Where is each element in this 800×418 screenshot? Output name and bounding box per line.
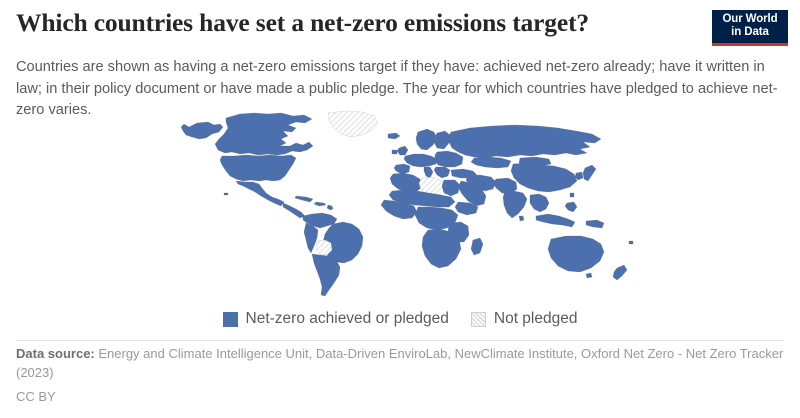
country-united-states[interactable] [220,155,296,181]
country-papua-new-guinea[interactable] [586,220,604,228]
country-western-europe[interactable] [404,154,437,167]
country-united-kingdom[interactable] [397,146,408,155]
country-alaska[interactable] [181,122,223,139]
data-source: Data source: Energy and Climate Intellig… [16,345,784,382]
world-map-container[interactable] [0,108,800,303]
license-label[interactable]: CC BY [16,388,784,406]
logo-line-1: Our World [716,13,784,26]
world-map[interactable] [0,108,800,303]
country-sri-lanka[interactable] [519,216,524,221]
data-source-label: Data source: [16,346,95,361]
legend-swatch-pledged-icon [223,312,238,327]
our-world-in-data-logo[interactable]: Our World in Data [712,10,788,46]
country-hawaii[interactable] [224,193,228,195]
legend-label-not-pledged: Not pledged [494,310,578,328]
country-new-zealand[interactable] [613,265,627,280]
country-kazakhstan[interactable] [471,157,511,168]
country-philippines[interactable] [565,202,577,212]
chart-footer: Data source: Energy and Climate Intellig… [16,345,784,406]
country-italy[interactable] [424,167,433,178]
country-finland-baltics[interactable] [434,131,450,149]
chart-header: Which countries have set a net-zero emis… [0,0,800,52]
country-morocco-algeria[interactable] [390,173,422,192]
country-cuba[interactable] [295,196,313,202]
country-greenland[interactable] [328,111,378,137]
country-peru-ecuador[interactable] [304,223,318,253]
logo-line-2: in Data [716,26,784,39]
country-iberia[interactable] [394,164,410,174]
country-madagascar[interactable] [471,238,483,255]
legend-item-pledged[interactable]: Net-zero achieved or pledged [223,310,449,328]
country-australia[interactable] [548,236,604,272]
country-eastern-europe[interactable] [435,151,463,167]
country-taiwan[interactable] [570,193,574,197]
footer-divider [16,340,784,341]
country-central-america[interactable] [283,203,305,218]
data-source-text: Energy and Climate Intelligence Unit, Da… [16,346,783,380]
country-mexico[interactable] [236,181,284,206]
country-japan[interactable] [583,165,596,181]
country-balkans-greece[interactable] [434,167,450,178]
country-indonesia[interactable] [536,214,575,227]
country-chile-argentina[interactable] [312,254,340,296]
country-hispaniola[interactable] [314,202,326,206]
country-egypt[interactable] [442,180,460,196]
legend-item-not-pledged[interactable]: Not pledged [471,310,578,328]
map-legend: Net-zero achieved or pledged Not pledged [0,306,800,332]
country-scandinavia[interactable] [416,129,437,150]
country-russia[interactable] [449,125,601,158]
country-ireland[interactable] [392,150,397,154]
country-india[interactable] [503,191,527,218]
legend-label-pledged: Net-zero achieved or pledged [246,310,449,328]
country-iceland[interactable] [388,133,400,139]
legend-swatch-not-pledged-icon [471,312,486,327]
country-tasmania[interactable] [586,273,592,278]
page-title: Which countries have set a net-zero emis… [16,8,706,38]
country-southeast-asia[interactable] [530,194,549,212]
country-fiji[interactable] [629,241,633,244]
country-china[interactable] [511,163,577,192]
country-canada[interactable] [215,113,313,155]
country-caribbean-islands[interactable] [327,205,333,210]
